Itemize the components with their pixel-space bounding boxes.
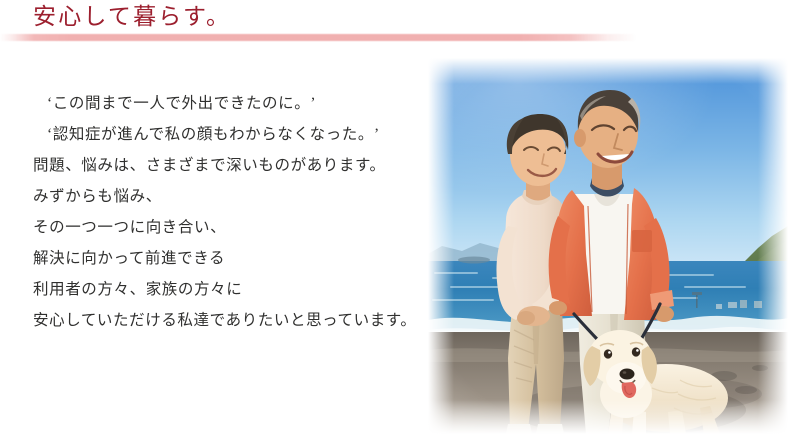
- page-root: 安心して暮らす。 ʻこの間まで一人で外出できたのに。ʼ ʻ認知症が進んで私の顔も…: [0, 0, 792, 440]
- copy-line: 利用者の方々、家族の方々に: [33, 274, 433, 305]
- copy-line: ʻこの間まで一人で外出できたのに。ʼ: [33, 88, 433, 119]
- photo-elderly-couple-with-dog: [428, 58, 788, 434]
- copy-line: みずからも悩み、: [33, 181, 433, 212]
- title-underline-rule: [0, 34, 640, 41]
- copy-line: その一つ一つに向き合い、: [33, 212, 433, 243]
- copy-line: 解決に向かって前進できる: [33, 243, 433, 274]
- page-title: 安心して暮らす。: [33, 2, 231, 32]
- copy-line: 安心していただける私達でありたいと思っています。: [33, 305, 433, 336]
- copy-line: ʻ認知症が進んで私の顔もわからなくなった。ʼ: [33, 119, 433, 150]
- body-copy: ʻこの間まで一人で外出できたのに。ʼ ʻ認知症が進んで私の顔もわからなくなった。…: [33, 88, 433, 336]
- copy-line: 問題、悩みは、さまざまで深いものがあります。: [33, 150, 433, 181]
- heading-block: 安心して暮らす。: [0, 0, 792, 48]
